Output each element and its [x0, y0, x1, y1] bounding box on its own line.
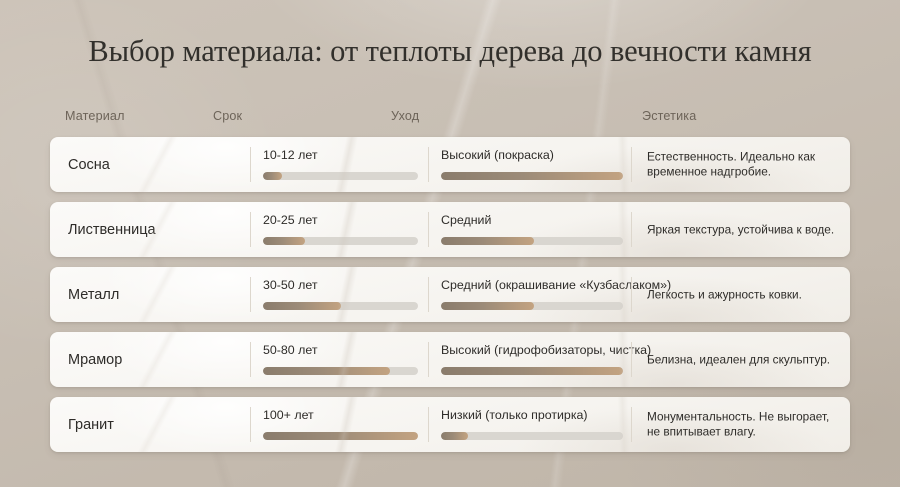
table-row[interactable]: Сосна 10-12 лет Высокий (покраска) — [50, 137, 850, 192]
cell-divider — [428, 212, 429, 247]
cell-aesthetic: Белизна, идеален для скульптур. — [631, 332, 850, 387]
material-name: Лиственница — [68, 222, 156, 238]
term-progress-track — [263, 172, 418, 180]
table-row[interactable]: Мрамор 50-80 лет Высокий (гидрофобизатор… — [50, 332, 850, 387]
cell-aesthetic: Легкость и ажурность ковки. — [631, 267, 850, 322]
material-name: Металл — [68, 287, 119, 303]
cell-divider — [428, 277, 429, 312]
term-progress-fill — [263, 432, 418, 440]
care-progress-track — [441, 172, 623, 180]
cell-care: Высокий (покраска) — [428, 137, 631, 192]
term-metric: 10-12 лет — [263, 148, 418, 180]
care-label: Высокий (покраска) — [441, 148, 623, 162]
care-metric: Низкий (только протирка) — [441, 408, 623, 440]
table-body: Сосна 10-12 лет Высокий (покраска) — [50, 137, 850, 452]
term-metric: 100+ лет — [263, 408, 418, 440]
cell-aesthetic: Яркая текстура, устойчива к воде. — [631, 202, 850, 257]
cell-material: Гранит — [50, 397, 250, 452]
term-label: 50-80 лет — [263, 343, 418, 357]
aesthetic-text: Яркая текстура, устойчива к воде. — [647, 222, 836, 238]
care-progress-track — [441, 302, 623, 310]
care-label: Средний — [441, 213, 623, 227]
aesthetic-text: Белизна, идеален для скульптур. — [647, 352, 836, 368]
cell-term: 50-80 лет — [250, 332, 428, 387]
care-metric: Высокий (покраска) — [441, 148, 623, 180]
term-metric: 50-80 лет — [263, 343, 418, 375]
material-name: Сосна — [68, 157, 110, 173]
table-row[interactable]: Металл 30-50 лет Средний (окрашивание «К… — [50, 267, 850, 322]
cell-divider — [428, 407, 429, 442]
cell-divider — [250, 212, 251, 247]
term-progress-track — [263, 237, 418, 245]
cell-divider — [631, 407, 632, 442]
term-progress-fill — [263, 302, 341, 310]
cell-care: Высокий (гидрофобизаторы, чистка) — [428, 332, 631, 387]
term-progress-fill — [263, 172, 282, 180]
infographic-canvas: Выбор материала: от теплоты дерева до ве… — [0, 0, 900, 487]
table-row[interactable]: Гранит 100+ лет Низкий (только протирка) — [50, 397, 850, 452]
care-metric: Высокий (гидрофобизаторы, чистка) — [441, 343, 651, 375]
material-name: Гранит — [68, 417, 114, 433]
care-progress-fill — [441, 172, 623, 180]
care-progress-fill — [441, 432, 468, 440]
care-progress-track — [441, 237, 623, 245]
care-progress-track — [441, 432, 623, 440]
cell-material: Мрамор — [50, 332, 250, 387]
aesthetic-text: Легкость и ажурность ковки. — [647, 287, 836, 303]
care-label: Высокий (гидрофобизаторы, чистка) — [441, 343, 651, 357]
term-progress-track — [263, 367, 418, 375]
term-metric: 20-25 лет — [263, 213, 418, 245]
term-progress-track — [263, 432, 418, 440]
cell-term: 30-50 лет — [250, 267, 428, 322]
cell-term: 100+ лет — [250, 397, 428, 452]
term-progress-track — [263, 302, 418, 310]
cell-care: Низкий (только протирка) — [428, 397, 631, 452]
column-header-care: Уход — [391, 109, 419, 123]
cell-divider — [631, 212, 632, 247]
cell-divider — [250, 407, 251, 442]
cell-material: Металл — [50, 267, 250, 322]
cell-divider — [631, 147, 632, 182]
care-label: Низкий (только протирка) — [441, 408, 623, 422]
cell-term: 20-25 лет — [250, 202, 428, 257]
cell-term: 10-12 лет — [250, 137, 428, 192]
page-title: Выбор материала: от теплоты дерева до ве… — [0, 33, 900, 70]
care-progress-fill — [441, 302, 534, 310]
cell-aesthetic: Монументальность. Не выгорает, не впитыв… — [631, 397, 850, 452]
material-name: Мрамор — [68, 352, 122, 368]
care-progress-fill — [441, 237, 534, 245]
cell-divider — [428, 342, 429, 377]
care-progress-fill — [441, 367, 623, 375]
table-header-row: Материал Срок Уход Эстетика — [50, 109, 850, 129]
table-row[interactable]: Лиственница 20-25 лет Средний — [50, 202, 850, 257]
aesthetic-text: Монументальность. Не выгорает, не впитыв… — [647, 409, 836, 440]
column-header-aesthetic: Эстетика — [642, 109, 696, 123]
cell-divider — [428, 147, 429, 182]
cell-material: Лиственница — [50, 202, 250, 257]
term-label: 100+ лет — [263, 408, 418, 422]
cell-aesthetic: Естественность. Идеально как временное н… — [631, 137, 850, 192]
cell-care: Средний — [428, 202, 631, 257]
care-metric: Средний — [441, 213, 623, 245]
term-label: 20-25 лет — [263, 213, 418, 227]
care-progress-track — [441, 367, 623, 375]
term-label: 30-50 лет — [263, 278, 418, 292]
cell-divider — [250, 342, 251, 377]
cell-divider — [250, 147, 251, 182]
term-label: 10-12 лет — [263, 148, 418, 162]
cell-divider — [250, 277, 251, 312]
cell-care: Средний (окрашивание «Кузбаслаком») — [428, 267, 631, 322]
cell-divider — [631, 342, 632, 377]
aesthetic-text: Естественность. Идеально как временное н… — [647, 149, 836, 180]
cell-divider — [631, 277, 632, 312]
term-progress-fill — [263, 237, 305, 245]
column-header-material: Материал — [65, 109, 125, 123]
column-header-term: Срок — [213, 109, 242, 123]
cell-material: Сосна — [50, 137, 250, 192]
term-progress-fill — [263, 367, 390, 375]
term-metric: 30-50 лет — [263, 278, 418, 310]
